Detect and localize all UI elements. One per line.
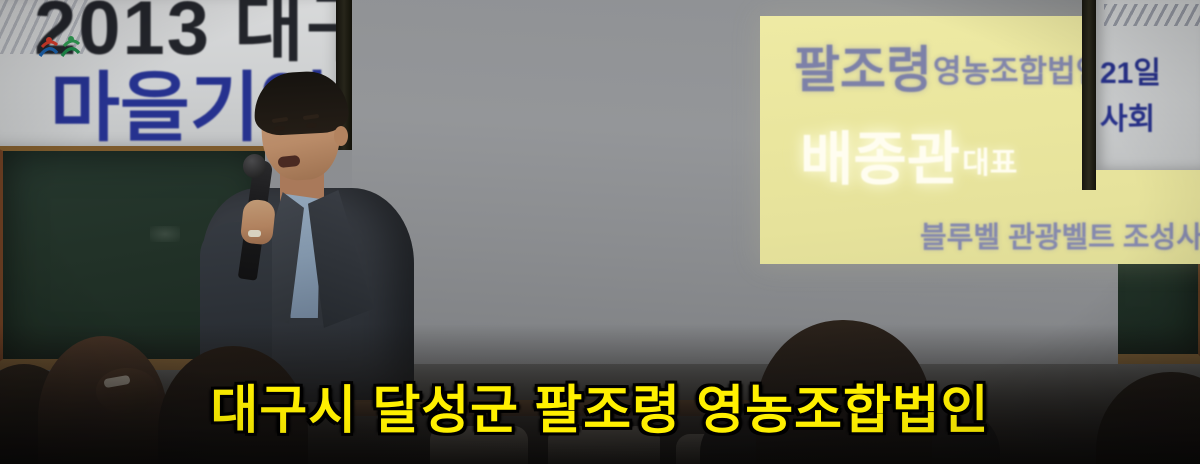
banner-right-hatch-decoration xyxy=(1104,4,1200,26)
banner-right-line1: 21일 xyxy=(1100,48,1161,92)
speaker-ear xyxy=(334,126,348,146)
wall-post-right xyxy=(1082,0,1096,190)
speaker-hair xyxy=(252,70,349,137)
slide-title-main: 팔조령 xyxy=(794,42,932,98)
chalk-smudge xyxy=(150,226,180,242)
chair-back xyxy=(548,426,660,464)
slide-title: 팔조령영농조합법인 xyxy=(794,30,1103,102)
slide-presenter-title: 대표 xyxy=(962,147,1017,180)
speaker-hand xyxy=(240,198,276,245)
photo-stage: 팔조령영농조합법인 재선정 대구광역시 달성군 배종관대표 블루벨 관광벨트 조… xyxy=(0,0,1200,464)
banner-right-line2: 사회 xyxy=(1100,94,1155,138)
chair-back xyxy=(430,426,528,464)
slide-presenter-name: 배종관 xyxy=(800,127,960,192)
projection-screen: 팔조령영농조합법인 재선정 대구광역시 달성군 배종관대표 블루벨 관광벨트 조… xyxy=(352,0,1118,364)
slide-project-name: 블루벨 관광벨트 조성사업 xyxy=(920,214,1200,256)
banner-right: 21일 사회 xyxy=(1096,0,1200,170)
slide-title-suffix: 영농조합법인 xyxy=(933,54,1104,89)
slide-presenter: 배종관대표 xyxy=(800,112,1015,196)
speaker-ring xyxy=(248,230,261,237)
